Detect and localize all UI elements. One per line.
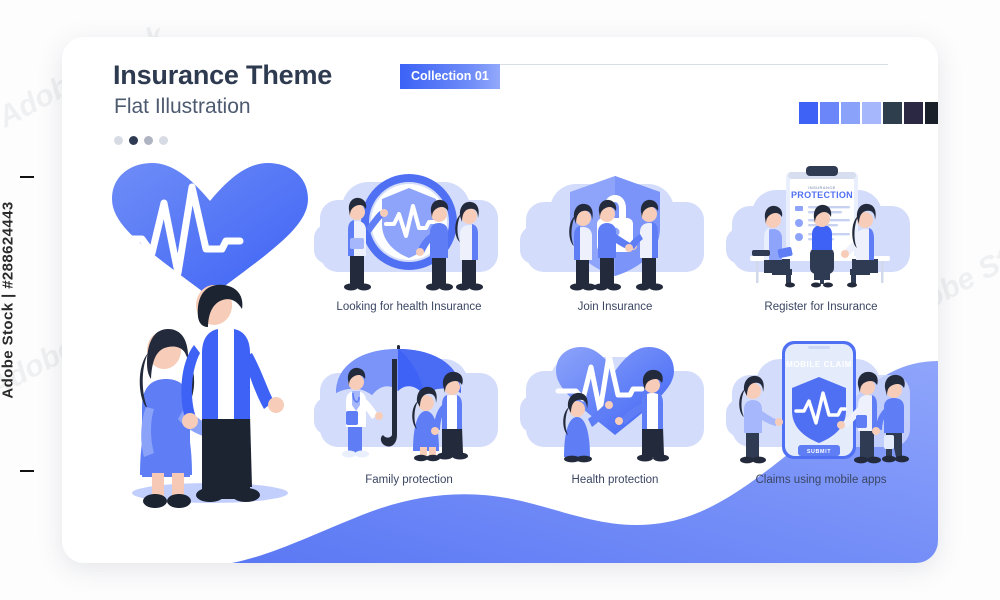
thumb-shield-padlock xyxy=(516,162,714,297)
hero-illustration xyxy=(90,157,335,517)
thumb-clipboard-desk: INSURANCE PROTECTION xyxy=(722,162,920,297)
pager-dots[interactable] xyxy=(114,136,168,145)
hero-man xyxy=(181,285,284,502)
caption: Health protection xyxy=(516,474,714,486)
color-palette xyxy=(799,102,938,124)
item-family-protection[interactable]: Family protection xyxy=(310,335,508,486)
pager-dot-2[interactable] xyxy=(129,136,138,145)
thumb-umbrella xyxy=(310,335,508,470)
page-subtitle: Flat Illustration xyxy=(114,95,251,119)
swatch-pale-blue[interactable] xyxy=(862,102,881,124)
phone-title: MOBILE CLAIM xyxy=(786,360,852,369)
caption: Claims using mobile apps xyxy=(722,474,920,486)
pager-dot-3[interactable] xyxy=(144,136,153,145)
item-health-protection[interactable]: Health protection xyxy=(516,335,714,486)
watermark-rule-top xyxy=(20,176,34,178)
watermark-credit: Adobe Stock | #288624443 xyxy=(0,201,17,398)
swatch-dark-purple[interactable] xyxy=(904,102,923,124)
illustration-grid: Looking for health Insurance xyxy=(310,162,920,486)
caption: Looking for health Insurance xyxy=(310,301,508,313)
caption: Register for Insurance xyxy=(722,301,920,313)
thumb-shield-ecg-circle xyxy=(310,162,508,297)
heart-shape xyxy=(112,163,308,297)
pager-dot-1[interactable] xyxy=(114,136,123,145)
caption: Family protection xyxy=(310,474,508,486)
swatch-blue[interactable] xyxy=(820,102,839,124)
collection-badge[interactable]: Collection 01 xyxy=(400,64,500,89)
caption: Join Insurance xyxy=(516,301,714,313)
submit-button-label: SUBMIT xyxy=(807,449,831,455)
swatch-near-black[interactable] xyxy=(925,102,938,124)
screenshot-root: Adobe Stock Adobe Stock Adobe Stock Adob… xyxy=(0,0,1000,600)
page-title: Insurance Theme xyxy=(113,60,332,91)
item-looking-for-health-insurance[interactable]: Looking for health Insurance xyxy=(310,162,508,313)
pager-dot-4[interactable] xyxy=(159,136,168,145)
swatch-royal-blue[interactable] xyxy=(799,102,818,124)
item-join-insurance[interactable]: Join Insurance xyxy=(516,162,714,313)
swatch-light-blue[interactable] xyxy=(841,102,860,124)
thumb-heart-ecg xyxy=(516,335,714,470)
swatch-slate[interactable] xyxy=(883,102,902,124)
item-register-for-insurance[interactable]: INSURANCE PROTECTION xyxy=(722,162,920,313)
phone: MOBILE CLAIM SUBMIT xyxy=(782,341,856,459)
thumb-mobile-claim: MOBILE CLAIM SUBMIT xyxy=(722,335,920,470)
item-claims-using-mobile-apps[interactable]: MOBILE CLAIM SUBMIT xyxy=(722,335,920,486)
poster-card: Insurance Theme Flat Illustration Collec… xyxy=(62,37,938,563)
watermark-rule-bottom xyxy=(20,470,34,472)
clipboard-title: PROTECTION xyxy=(791,190,853,200)
